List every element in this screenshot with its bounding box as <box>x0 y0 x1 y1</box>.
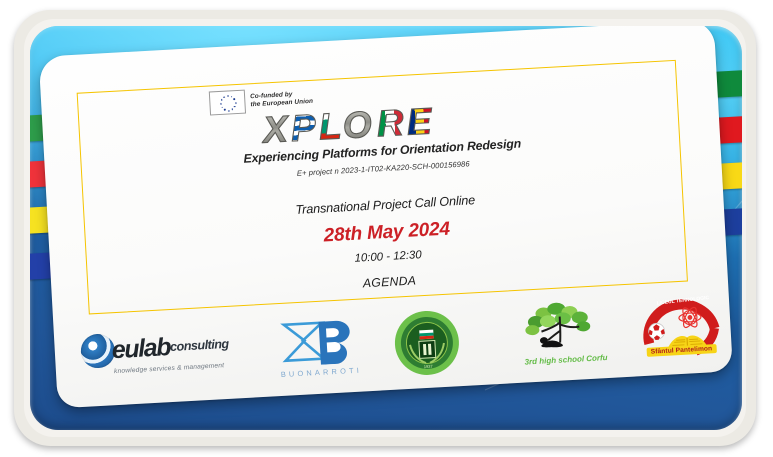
eu-funding-text: Co-funded by the European Union <box>250 90 313 110</box>
eu-flag-icon <box>209 90 246 116</box>
partner-logo-liceul-tehnologic: LICEUL TEHNOLOGIC Sfântul Pantelimon <box>635 293 739 365</box>
paper-sheet: Co-funded by the European Union <box>39 26 733 408</box>
tree-icon <box>509 297 620 357</box>
eulab-consulting-word: consulting <box>170 337 229 354</box>
sigma-b-icon <box>277 315 362 367</box>
school-seal-icon: 1937 <box>392 308 462 378</box>
svg-text:L: L <box>318 105 343 147</box>
svg-text:1937: 1937 <box>424 364 434 370</box>
svg-text:X: X <box>260 108 291 149</box>
partner-logo-corfu-school: 3rd high school Corfu <box>507 297 622 367</box>
screenshot-canvas: Co-funded by the European Union <box>0 0 773 457</box>
svg-text:O: O <box>342 104 373 147</box>
partner-logo-bulgarian-school: 1937 <box>392 308 462 383</box>
svg-text:P: P <box>290 107 317 149</box>
eulab-wordmark: eulab <box>111 335 171 362</box>
svg-text:E: E <box>406 100 434 142</box>
buonarroti-label: BUONARROTI <box>275 365 367 379</box>
slide-paper-card: Co-funded by the European Union <box>39 26 734 416</box>
partner-logo-eulab: eulab consulting knowledge services & ma… <box>80 325 258 377</box>
partner-logo-buonarroti: BUONARROTI <box>272 314 367 379</box>
svg-text:R: R <box>376 102 405 144</box>
slide-background: Co-funded by the European Union <box>30 26 742 430</box>
